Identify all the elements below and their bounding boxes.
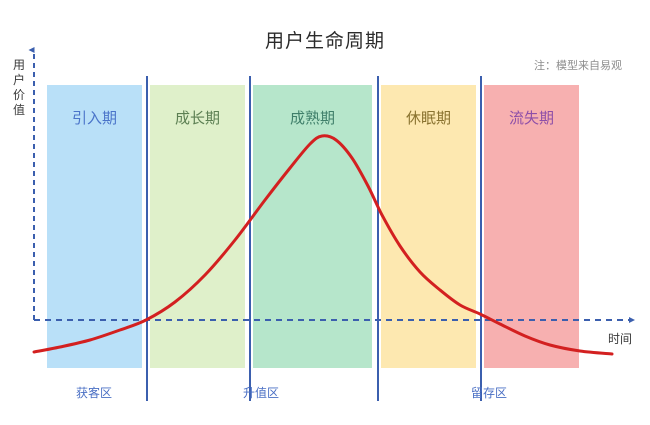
stage-band-maturity: 成熟期 [253,85,372,368]
zone-label-value-growth: 升值区 [221,384,301,401]
stage-band-label: 引入期 [47,107,142,128]
stage-band-label: 成熟期 [253,107,372,128]
y-axis-label-char: 用 [11,58,27,73]
zone-label-acquisition: 获客区 [54,384,134,401]
stage-band-label: 休眠期 [381,107,476,128]
stage-band-churn: 流失期 [484,85,579,368]
stage-divider-line [480,76,482,401]
stage-band-dormancy: 休眠期 [381,85,476,368]
x-axis-label: 时间 [608,330,632,347]
stage-band-label: 流失期 [484,107,579,128]
page-title: 用户生命周期 [0,26,650,53]
y-axis-label-char: 价 [11,88,27,103]
stage-divider-line [377,76,379,401]
y-axis-label-char: 值 [11,103,27,118]
user-lifecycle-chart: 用户生命周期 注：模型来自易观 用 户 价 值 时间 引入期 成长期 成熟期 休… [0,0,650,425]
stage-divider-line [146,76,148,401]
zone-label-retention: 留存区 [449,384,529,401]
source-note: 注：模型来自易观 [534,57,622,73]
stage-band-label: 成长期 [150,107,245,128]
stage-divider-line [249,76,251,401]
stage-band-growth: 成长期 [150,85,245,368]
y-axis-label-char: 户 [11,73,27,88]
y-axis-label: 用 户 价 值 [11,58,27,118]
stage-band-introduction: 引入期 [47,85,142,368]
